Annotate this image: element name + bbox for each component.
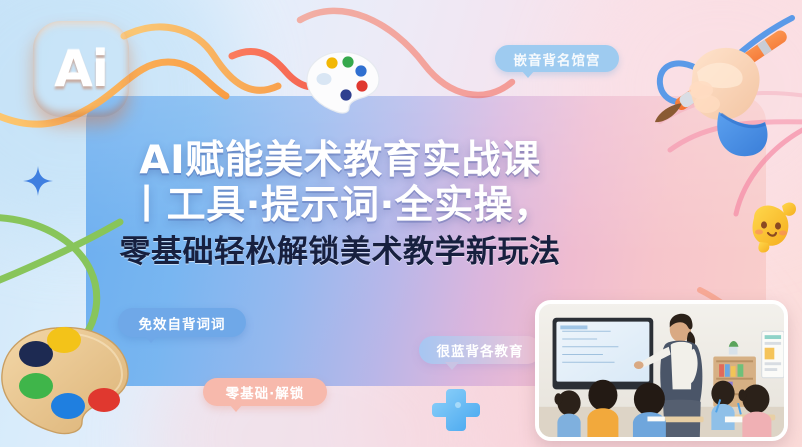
poster-canvas: Ai [0,0,802,447]
tag-badge-top-label: 嵌音背名馆宫 [514,49,601,69]
tag-badge-bottom: 零基础·解锁 [203,378,327,406]
page-title: AI赋能美术教育实战课 丨工具·提示词·全实操， 零基础轻松解锁美术教学新玩法 [0,140,680,269]
palette-icon [299,47,385,117]
hand-holding-paintbrush-icon [641,0,802,158]
tag-badge-middle: 很蓝背各教育 [419,336,541,364]
ai-logo-label: Ai [54,40,108,98]
wooden-palette-icon [0,318,136,446]
tag-badge-top: 嵌音背名馆宫 [495,45,619,72]
headline-line-3: 零基础轻松解锁美术教学新玩法 [0,236,680,269]
ai-logo: Ai [33,21,129,117]
blue-3d-cross-icon [432,385,480,433]
yellow-blob-mascot-icon [742,192,800,258]
headline-line-1: AI赋能美术教育实战课 [0,140,680,181]
tag-badge-left: 免效自背词词 [118,308,246,337]
tag-badge-bottom-label: 零基础·解锁 [226,382,305,402]
tag-badge-middle-label: 很蓝背各教育 [437,340,524,360]
tag-badge-left-label: 免效自背词词 [139,313,226,333]
headline-line-2: 丨工具·提示词·全实操， [0,185,680,226]
classroom-photo [535,300,788,441]
